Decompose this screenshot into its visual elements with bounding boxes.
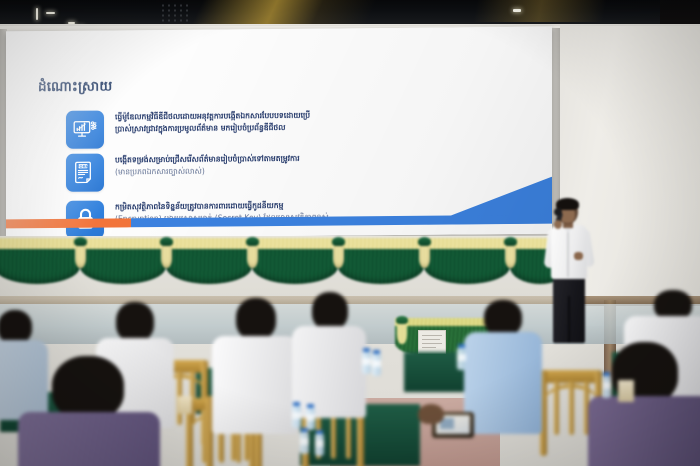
- water-bottle: [372, 350, 381, 376]
- presenter-shirt-placket: [567, 229, 569, 277]
- drapery-tassel-side: [396, 316, 408, 344]
- ceiling-light-beam: [180, 0, 400, 26]
- water-bottle: [457, 344, 466, 370]
- presenter-hand-left: [554, 220, 562, 229]
- drapery-swag: [0, 238, 80, 284]
- ceiling-light: [46, 12, 55, 14]
- audience-person-5: [296, 292, 362, 412]
- slide-bullet-1: ធ្វើម៉ូឌែលកម្មវិធីឌីជីថលដោយអនុវត្តការបង្…: [66, 109, 310, 149]
- svg-text:FORM: FORM: [77, 165, 89, 169]
- ceiling-light: [36, 8, 38, 20]
- projection-screen: ដំណោះស្រាយ ធ្វើម៉ូឌែលក: [6, 27, 552, 239]
- slide-bullet-2-text: បង្កើតទម្រង់សម្រាប់ជ្រើសរើសព័ត៌មានរៀបចំប…: [115, 152, 300, 178]
- water-bottle: [300, 428, 309, 454]
- drapery-swag: [166, 238, 252, 284]
- presentation-photo-scene: ដំណោះស្រាយ ធ្វើម៉ូឌែលក: [0, 0, 700, 466]
- slide-title: ដំណោះស្រាយ: [38, 77, 112, 98]
- paper-stack: [618, 380, 634, 402]
- slide-footer-bar-orange: [6, 218, 131, 228]
- drapery-tassel: [418, 237, 431, 268]
- drapery-swag: [338, 238, 424, 284]
- slide-bullet-1-text: ធ្វើម៉ូឌែលកម្មវិធីឌីជីថលដោយអនុវត្តការបង្…: [115, 109, 310, 135]
- water-bottle: [362, 348, 371, 374]
- ceiling: [0, 0, 700, 26]
- ceiling-speaker-grille: [160, 3, 190, 23]
- drapery-tassel: [332, 237, 345, 268]
- form-document-icon: FORM: [66, 154, 104, 192]
- drapery-swag: [252, 238, 338, 284]
- audience-person-7: [592, 342, 700, 466]
- drapery-swag: [424, 238, 510, 284]
- drapery-tassel: [160, 237, 173, 268]
- water-bottle: [306, 404, 315, 430]
- monitor-chart-icon: [66, 111, 104, 149]
- audience-person-2: [24, 356, 148, 466]
- drapery-tassel: [246, 237, 259, 268]
- microphone-head: [554, 208, 562, 216]
- slide-canvas: ដំណោះស្រាយ ធ្វើម៉ូឌែលក: [6, 27, 552, 239]
- drapery-tassel: [74, 237, 87, 268]
- presenter: [540, 196, 598, 346]
- slide-bullet-2: FORM បង្កើតទម្រង់សម្រាប់ជ្រើសរើសព័ត៌មានរ…: [66, 152, 300, 192]
- bullet-line: ប្រាស់ស្រាវជ្រាវក្នុងការប្រមូលព័ត៌មាន មក…: [115, 121, 310, 134]
- water-bottle: [315, 430, 324, 456]
- ceiling-light: [513, 9, 521, 12]
- presenter-leg-split: [568, 296, 570, 343]
- drapery-tassel: [504, 237, 517, 268]
- audience-person-6: [466, 300, 538, 432]
- water-bottle: [292, 402, 301, 428]
- audience-person-4: [214, 298, 296, 430]
- bullet-line: (មានប្រភពឯកសារច្បាស់លាស់): [115, 164, 300, 177]
- water-bottle: [602, 372, 611, 398]
- hand-holding-phone: [418, 404, 444, 424]
- presenter-hand-right: [574, 252, 583, 260]
- paper-stack: [178, 396, 192, 414]
- wall-poster: [418, 330, 446, 354]
- drapery-swag: [80, 238, 166, 284]
- ceiling-light-beam-secondary: [470, 0, 610, 22]
